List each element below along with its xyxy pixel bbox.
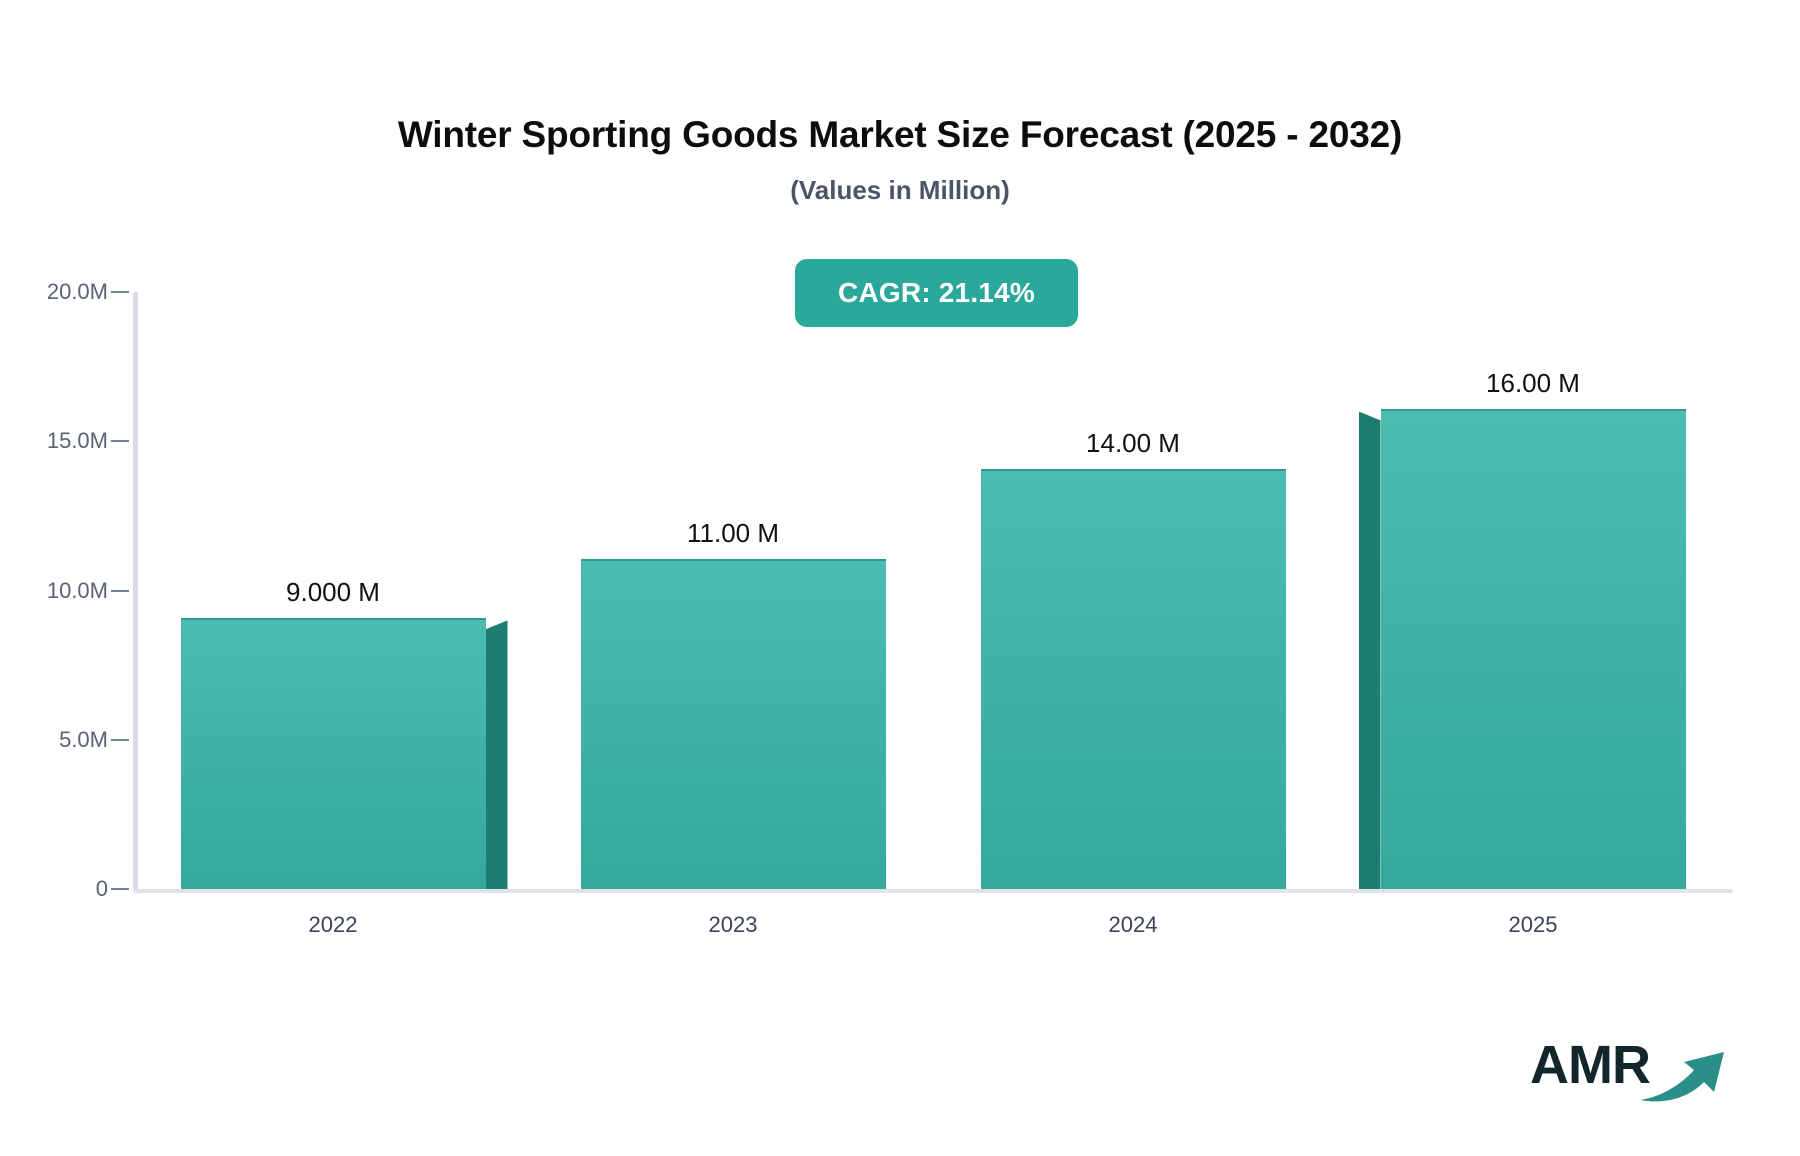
bar-2023[interactable]: 11.00 M	[581, 561, 886, 889]
y-tick-mark	[111, 440, 129, 442]
bar-side-face	[1359, 411, 1381, 889]
bar-2024[interactable]: 14.00 M	[981, 471, 1286, 889]
chart-title: Winter Sporting Goods Market Size Foreca…	[0, 114, 1800, 156]
bar-value-label: 14.00 M	[1086, 428, 1180, 459]
y-tick-mark	[111, 739, 129, 741]
y-tick-label: 15.0M	[0, 428, 108, 454]
bar-value-label: 9.000 M	[286, 577, 380, 608]
bar-front-face	[181, 618, 486, 889]
plot-area: 05.0M10.0M15.0M20.0M 9.000 M11.00 M14.00…	[133, 292, 1733, 892]
bar-front-face	[1381, 409, 1686, 889]
y-tick-mark	[111, 291, 129, 293]
bar-side-face	[486, 620, 508, 889]
y-tick-label: 0	[0, 876, 108, 902]
y-tick-label: 20.0M	[0, 279, 108, 305]
amr-logo: AMR	[1530, 1030, 1730, 1110]
x-tick-label: 2023	[709, 912, 758, 938]
y-tick-label: 10.0M	[0, 578, 108, 604]
chart-subtitle: (Values in Million)	[0, 175, 1800, 206]
bar-value-label: 16.00 M	[1486, 368, 1580, 399]
bar-front-face	[981, 469, 1286, 889]
y-tick-mark	[111, 590, 129, 592]
chart-page: Winter Sporting Goods Market Size Foreca…	[0, 0, 1800, 1156]
y-tick-mark	[111, 888, 129, 890]
x-tick-label: 2024	[1109, 912, 1158, 938]
x-tick-label: 2022	[309, 912, 358, 938]
x-tick-label: 2025	[1509, 912, 1558, 938]
x-axis-line	[133, 889, 1733, 893]
growth-arrow-icon	[1638, 1048, 1728, 1104]
bar-2022[interactable]: 9.000 M	[181, 620, 486, 889]
bar-front-face	[581, 559, 886, 889]
logo-wordmark: AMR	[1530, 1034, 1650, 1096]
y-axis-line	[133, 292, 138, 892]
bar-2025[interactable]: 16.00 M	[1381, 411, 1686, 889]
bar-value-label: 11.00 M	[687, 518, 779, 549]
y-tick-label: 5.0M	[0, 727, 108, 753]
